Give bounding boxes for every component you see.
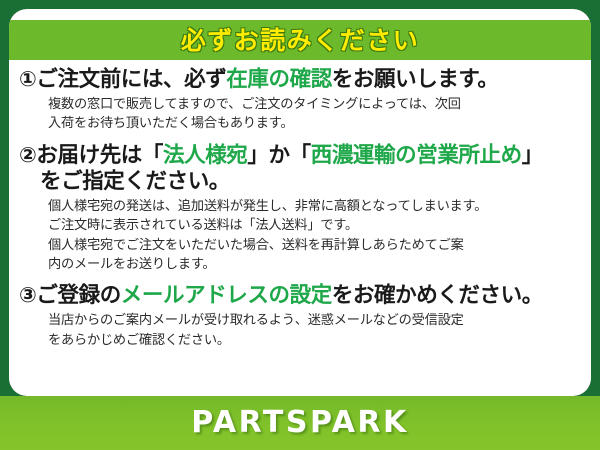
notice-item-2-sub-line-1: 個人様宅宛の発送は、追加送料が発生し、非常に高額となってしまいます。 [48, 197, 583, 216]
notice-item-3-marker: ③ [19, 283, 36, 307]
brand-logo-text: PARTSPARK [191, 408, 409, 438]
notice-item-2-marker: ② [19, 143, 36, 167]
notice-item-1-sub: 複数の窓口で販売してますので、ご注文のタイミングによっては、次回 入荷をお待ち頂… [19, 95, 583, 134]
notice-item-1-sub-line-2: 入荷をお待ち頂いただく場合もあります。 [48, 114, 583, 133]
notice-item-3-heading-post: をお確かめください。 [332, 283, 543, 308]
notice-item-3: ③ご登録のメールアドレスの設定をお確かめください。 当店からのご案内メールが受け… [19, 283, 583, 350]
notice-panel: 必ずお読みください ①ご注文前には、必ず在庫の確認をお願いします。 複数の窓口で… [9, 9, 591, 396]
header-title: 必ずお読みください [181, 28, 420, 53]
notice-item-1-heading-pre: ご注文前には、必ず [36, 67, 226, 92]
notice-items: ①ご注文前には、必ず在庫の確認をお願いします。 複数の窓口で販売してますので、ご… [9, 67, 591, 350]
notice-item-2-heading-pre: お届け先は「 [36, 143, 163, 168]
notice-item-1-marker: ① [19, 67, 36, 91]
notice-item-1-heading-post: をお願いします。 [332, 67, 499, 92]
notice-item-2-heading-post: 」 [522, 143, 543, 168]
notice-item-2-heading: ②お届け先は「法人様宛」か「西濃運輸の営業所止め」 [19, 143, 583, 169]
notice-item-3-heading-pre: ご登録の [36, 283, 120, 308]
footer-brand-band: PARTSPARK [0, 396, 600, 450]
notice-item-2-sub-line-2: ご注文時に表示されている送料は「法人送料」です。 [48, 216, 583, 235]
notice-item-2: ②お届け先は「法人様宛」か「西濃運輸の営業所止め」 をご指定ください。 個人様宅… [19, 143, 583, 275]
notice-item-2-heading-highlight: 法人様宛 [163, 143, 247, 168]
notice-item-3-sub-line-2: をあらかじめご確認ください。 [48, 331, 583, 350]
notice-item-2-heading-line2: をご指定ください。 [19, 169, 583, 195]
notice-card: 必ずお読みください ①ご注文前には、必ず在庫の確認をお願いします。 複数の窓口で… [0, 0, 600, 450]
notice-item-2-sub: 個人様宅宛の発送は、追加送料が発生し、非常に高額となってしまいます。 ご注文時に… [19, 197, 583, 274]
notice-item-3-heading: ③ご登録のメールアドレスの設定をお確かめください。 [19, 283, 583, 309]
notice-item-1-sub-line-1: 複数の窓口で販売してますので、ご注文のタイミングによっては、次回 [48, 95, 583, 114]
notice-item-3-sub: 当店からのご案内メールが受け取れるよう、迷惑メールなどの受信設定 をあらかじめご… [19, 311, 583, 350]
notice-item-2-sub-line-3: 個人様宅宛でご注文をいただいた場合、送料を再計算しあらためてご案 [48, 236, 583, 255]
notice-item-3-sub-line-1: 当店からのご案内メールが受け取れるよう、迷惑メールなどの受信設定 [48, 311, 583, 330]
notice-item-2-heading-highlight-2: 西濃運輸の営業所止め [311, 143, 522, 168]
notice-item-2-heading-mid: 」か「 [247, 143, 310, 168]
notice-item-1-heading-highlight: 在庫の確認 [226, 67, 332, 92]
notice-item-2-sub-line-4: 内のメールをお送りします。 [48, 255, 583, 274]
notice-item-1-heading: ①ご注文前には、必ず在庫の確認をお願いします。 [19, 67, 583, 93]
notice-item-1: ①ご注文前には、必ず在庫の確認をお願いします。 複数の窓口で販売してますので、ご… [19, 67, 583, 134]
notice-item-3-heading-highlight: メールアドレスの設定 [121, 283, 332, 308]
header-banner: 必ずお読みください [9, 20, 591, 60]
